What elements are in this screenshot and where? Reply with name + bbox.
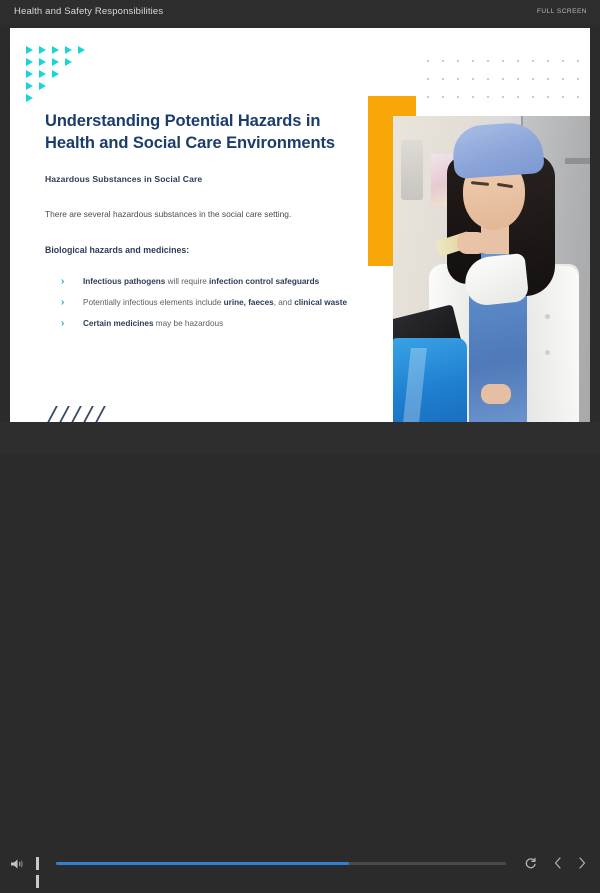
slash-mark	[68, 406, 82, 422]
dot-mark	[532, 96, 534, 98]
dot-mark	[547, 78, 549, 80]
dot-mark	[457, 96, 459, 98]
chevron-left-icon[interactable]	[552, 856, 564, 870]
dot-mark	[487, 78, 489, 80]
progress-scrubber[interactable]	[56, 862, 506, 865]
chevron-right-icon: ›	[61, 297, 70, 308]
triangle-icon	[39, 58, 46, 66]
dot-mark	[502, 96, 504, 98]
speaker-icon[interactable]	[10, 858, 24, 870]
triangle-row	[26, 46, 91, 58]
triangle-icon	[52, 70, 59, 78]
dot-mark	[562, 60, 564, 62]
dot-mark	[442, 60, 444, 62]
slash-decoration	[50, 406, 110, 422]
bullet-text-run: Certain medicines	[83, 319, 154, 328]
triangle-decoration	[26, 46, 91, 106]
bullet-text-run: infection control safeguards	[209, 277, 319, 286]
dot-mark	[532, 78, 534, 80]
slash-mark	[56, 406, 70, 422]
top-bar: Health and Safety Responsibilities FULL …	[0, 0, 600, 26]
dot-mark	[547, 60, 549, 62]
slash-mark	[44, 406, 58, 422]
triangle-icon	[39, 70, 46, 78]
bullet-text-run: urine, faeces	[224, 298, 274, 307]
dot-mark	[547, 96, 549, 98]
chevron-right-icon[interactable]	[576, 856, 588, 870]
dot-mark	[487, 96, 489, 98]
dot-mark	[427, 60, 429, 62]
dot-mark	[517, 96, 519, 98]
course-title: Health and Safety Responsibilities	[14, 6, 163, 17]
triangle-icon	[39, 82, 46, 90]
triangle-icon	[65, 58, 72, 66]
slide-heading: Understanding Potential Hazards in Healt…	[45, 111, 345, 155]
slide-photo	[393, 116, 590, 422]
bullet-text-run: may be hazardous	[154, 319, 224, 328]
slide-stage: Understanding Potential Hazards in Healt…	[0, 25, 600, 422]
dot-mark	[472, 60, 474, 62]
triangle-row	[26, 94, 91, 106]
triangle-row	[26, 82, 91, 94]
bullet-item: ›Potentially infectious elements include…	[55, 297, 360, 309]
triangle-row	[26, 70, 91, 82]
dot-mark	[502, 60, 504, 62]
dot-mark	[562, 96, 564, 98]
progress-fill	[56, 862, 349, 865]
triangle-icon	[78, 46, 85, 54]
dot-mark	[517, 60, 519, 62]
bullet-item: ›Infectious pathogens will require infec…	[55, 276, 360, 288]
triangle-icon	[65, 46, 72, 54]
bullet-list: ›Infectious pathogens will require infec…	[55, 276, 360, 339]
slide-paragraph: There are several hazardous substances i…	[45, 208, 355, 221]
dot-mark	[427, 78, 429, 80]
triangle-icon	[26, 70, 33, 78]
dot-mark	[457, 78, 459, 80]
dot-mark	[562, 78, 564, 80]
triangle-icon	[26, 94, 33, 102]
dot-mark	[457, 60, 459, 62]
triangle-row	[26, 58, 91, 70]
triangle-icon	[26, 58, 33, 66]
bullet-text-run: Infectious pathogens	[83, 277, 165, 286]
slide-lead-in: Biological hazards and medicines:	[45, 245, 355, 255]
slash-mark	[92, 406, 106, 422]
triangle-icon	[26, 46, 33, 54]
triangle-icon	[39, 46, 46, 54]
dot-mark	[577, 96, 579, 98]
dot-mark	[472, 78, 474, 80]
slide-canvas: Understanding Potential Hazards in Healt…	[10, 28, 590, 422]
bullet-item: ›Certain medicines may be hazardous	[55, 318, 360, 330]
slide-subheading: Hazardous Substances in Social Care	[45, 174, 345, 184]
elearning-player: Health and Safety Responsibilities FULL …	[0, 0, 600, 454]
bullet-text-run: Potentially infectious elements include	[83, 298, 224, 307]
dot-mark	[442, 78, 444, 80]
bullet-text-run: , and	[274, 298, 295, 307]
bullet-text-run: clinical waste	[294, 298, 347, 307]
dot-mark	[577, 60, 579, 62]
player-control-bar	[0, 422, 600, 454]
triangle-icon	[26, 82, 33, 90]
dot-mark	[427, 96, 429, 98]
fullscreen-button[interactable]: FULL SCREEN	[537, 8, 587, 15]
dot-mark	[472, 96, 474, 98]
triangle-icon	[52, 58, 59, 66]
dot-mark	[577, 78, 579, 80]
dot-mark	[532, 60, 534, 62]
replay-icon[interactable]	[524, 857, 537, 870]
bullet-text-run: will require	[165, 277, 209, 286]
dot-mark	[442, 96, 444, 98]
pause-button[interactable]	[36, 857, 46, 870]
dot-mark	[517, 78, 519, 80]
dot-mark	[487, 60, 489, 62]
chevron-right-icon: ›	[61, 276, 70, 287]
slash-mark	[80, 406, 94, 422]
triangle-icon	[52, 46, 59, 54]
dot-mark	[502, 78, 504, 80]
dot-pattern-decoration	[427, 60, 590, 108]
chevron-right-icon: ›	[61, 318, 70, 329]
